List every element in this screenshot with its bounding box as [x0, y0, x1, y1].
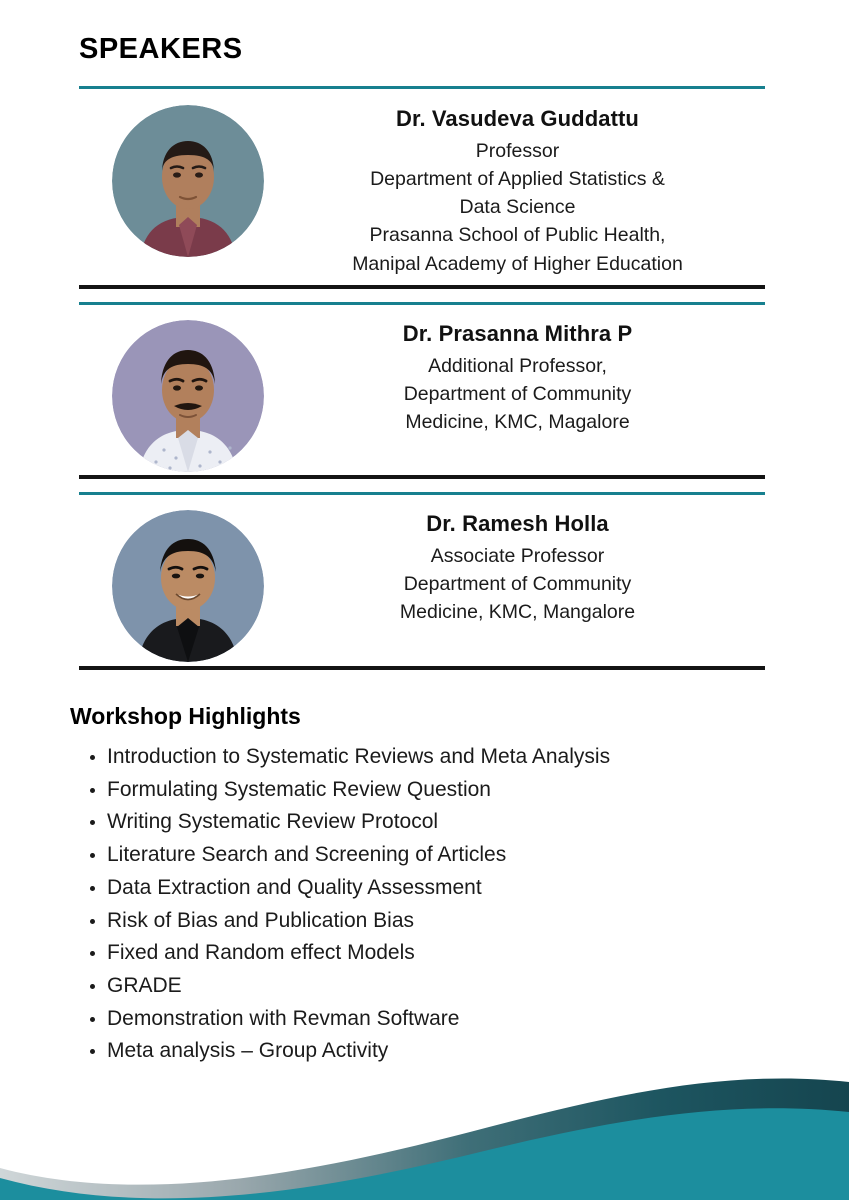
list-item: Data Extraction and Quality Assessment: [76, 872, 776, 905]
avatar: [112, 510, 264, 662]
speaker-divider-black-3: [79, 666, 765, 670]
speaker-divider-teal-1: [79, 302, 765, 305]
speaker-detail-line: Additional Professor,: [276, 352, 759, 380]
workshop-highlights-title: Workshop Highlights: [70, 703, 301, 730]
avatar: [112, 320, 264, 472]
speaker-detail-line: Department of Community: [276, 380, 759, 408]
speaker-detail-line: Department of Applied Statistics &: [276, 165, 759, 193]
speaker-detail-line: Prasanna School of Public Health,: [276, 221, 759, 249]
speaker-info: Dr. Vasudeva Guddattu Professor Departme…: [264, 105, 765, 278]
speaker-name: Dr. Vasudeva Guddattu: [276, 105, 759, 133]
speaker-detail-line: Department of Community: [276, 570, 759, 598]
poster-page: SPEAKERS: [0, 0, 849, 1200]
speaker-card-2: Dr. Prasanna Mithra P Additional Profess…: [79, 320, 765, 472]
list-item: Literature Search and Screening of Artic…: [76, 839, 776, 872]
list-item: Formulating Systematic Review Question: [76, 774, 776, 807]
speaker-card-1: Dr. Vasudeva Guddattu Professor Departme…: [79, 105, 765, 278]
speaker-card-3: Dr. Ramesh Holla Associate Professor Dep…: [79, 510, 765, 662]
list-item: Fixed and Random effect Models: [76, 937, 776, 970]
speaker-name: Dr. Ramesh Holla: [276, 510, 759, 538]
speaker-detail-line: Associate Professor: [276, 542, 759, 570]
speaker-name: Dr. Prasanna Mithra P: [276, 320, 759, 348]
speaker-detail-line: Data Science: [276, 193, 759, 221]
avatar: [112, 105, 264, 257]
speaker-divider-black-1: [79, 285, 765, 289]
list-item: Demonstration with Revman Software: [76, 1003, 776, 1036]
workshop-highlights-list: Introduction to Systematic Reviews and M…: [76, 741, 776, 1068]
speaker-info: Dr. Ramesh Holla Associate Professor Dep…: [264, 510, 765, 626]
page-title: SPEAKERS: [79, 34, 243, 66]
speaker-detail-line: Medicine, KMC, Magalore: [276, 408, 759, 436]
speaker-detail-line: Medicine, KMC, Mangalore: [276, 598, 759, 626]
speaker-divider-teal-2: [79, 492, 765, 495]
list-item: Introduction to Systematic Reviews and M…: [76, 741, 776, 774]
list-item: Writing Systematic Review Protocol: [76, 806, 776, 839]
speaker-divider-black-2: [79, 475, 765, 479]
speaker-info: Dr. Prasanna Mithra P Additional Profess…: [264, 320, 765, 436]
speaker-detail-line: Manipal Academy of Higher Education: [276, 250, 759, 278]
header-divider-teal: [79, 86, 765, 89]
footer-wave-decoration: [0, 1040, 849, 1200]
list-item: GRADE: [76, 970, 776, 1003]
speaker-detail-line: Professor: [276, 137, 759, 165]
list-item: Risk of Bias and Publication Bias: [76, 905, 776, 938]
